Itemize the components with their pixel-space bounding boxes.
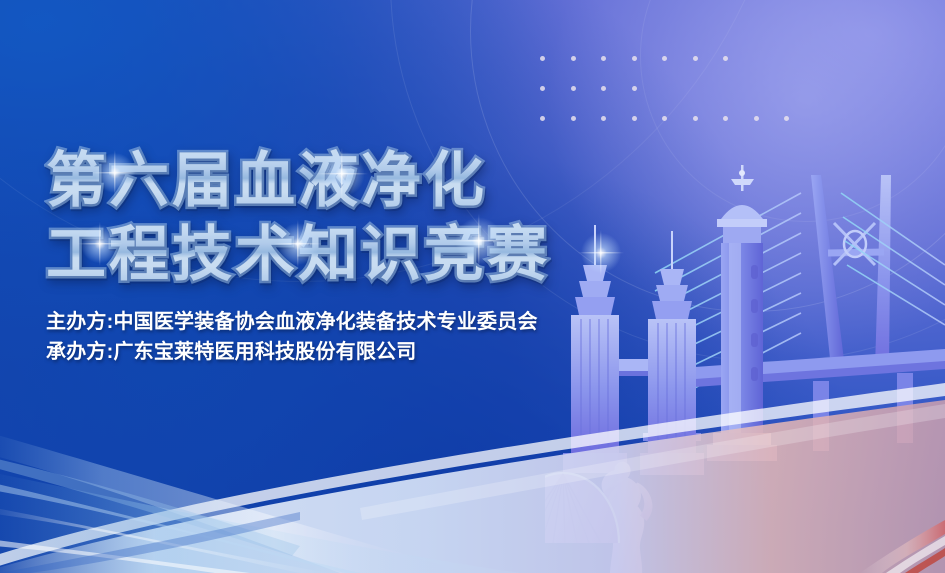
grid-dot (784, 116, 789, 121)
dot-grid-row (540, 116, 789, 121)
twin-towers (563, 225, 704, 475)
bridge-pylon (811, 175, 891, 368)
grid-dot (601, 86, 606, 91)
dot-grid-row (540, 56, 789, 61)
grid-dot (540, 116, 545, 121)
dot-grid-row (540, 86, 789, 91)
grid-dot (571, 86, 576, 91)
grid-dot (601, 56, 606, 61)
grid-dot (723, 56, 728, 61)
city-skyline-illustration (545, 153, 945, 573)
grid-dot (754, 116, 759, 121)
grid-dot (723, 116, 728, 121)
grid-dot (632, 56, 637, 61)
banner-text-block: 第六届血液净化 工程技术知识竞赛 主办方:中国医学装备协会血液净化装备技术专业委… (46, 146, 550, 366)
dot-grid-decoration (540, 56, 789, 146)
bridge-cables-right (841, 193, 945, 325)
grid-dot (540, 86, 545, 91)
organizer-line: 主办方:中国医学装备协会血液净化装备技术专业委员会 (46, 308, 550, 336)
grid-dot (662, 116, 667, 121)
grid-dot (693, 56, 698, 61)
clock-tower (707, 165, 777, 461)
tower-right (640, 231, 704, 475)
grid-dot (632, 86, 637, 91)
banner-title-line-2: 工程技术知识竞赛 (46, 220, 550, 290)
grid-dot (571, 56, 576, 61)
grid-dot (662, 56, 667, 61)
tower-left (563, 225, 627, 473)
banner-title-line-1: 第六届血液净化 (46, 146, 550, 216)
banner-canvas: 第六届血液净化 工程技术知识竞赛 主办方:中国医学装备协会血液净化装备技术专业委… (0, 0, 945, 573)
undertaker-line: 承办方:广东宝莱特医用科技股份有限公司 (46, 338, 550, 366)
grid-dot (601, 116, 606, 121)
grid-dot (693, 116, 698, 121)
grid-dot (540, 56, 545, 61)
grid-dot (632, 116, 637, 121)
grid-dot (571, 116, 576, 121)
